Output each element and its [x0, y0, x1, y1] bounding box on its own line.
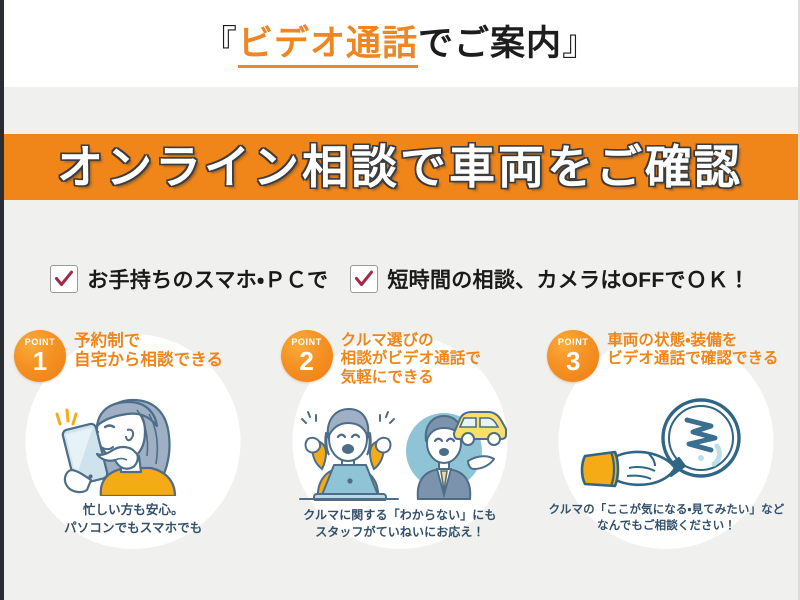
badge-number: 3	[566, 348, 580, 374]
point-badge-2: POINT 2	[281, 330, 333, 382]
check-item-1: お手持ちのスマホ・ＰＣで	[50, 264, 328, 294]
point-title-3: 車両の状態・装備を ビデオ通話で確認できる	[607, 330, 778, 369]
check-item-2: 短時間の相談、カメラはOFFでＯＫ！	[350, 264, 749, 294]
checkbox-checked-icon	[50, 265, 78, 293]
points-section: POINT 1 予約制で 自宅から相談できる	[0, 326, 800, 561]
woman-with-smartphone-illustration	[0, 384, 267, 496]
point-title-1: 予約制で 自宅から相談できる	[74, 330, 223, 371]
point-caption-3: クルマの「ここが気になる・見てみたい」など なんでもご相談ください！	[533, 502, 800, 535]
checkbox-feature-row: お手持ちのスマホ・ＰＣで 短時間の相談、カメラはOFFでＯＫ！	[0, 264, 800, 294]
hand-holding-magnifier-illustration	[533, 384, 800, 496]
point-caption-2: クルマに関する「わからない」にも スタッフがていねいにお応え！	[267, 507, 534, 541]
checkbox-checked-icon	[350, 265, 378, 293]
promo-banner-page: 『ビデオ通話でご案内』 オンライン相談で車両をご確認 お手持ちのスマホ・ＰＣで …	[0, 0, 800, 600]
point-badge-1: POINT 1	[14, 330, 66, 382]
bracket-open: 『	[202, 24, 238, 63]
point-header-2: POINT 2 クルマ選びの 相談がビデオ通話で 気軽にできる	[267, 326, 534, 387]
header-highlight-text: ビデオ通話	[238, 24, 418, 68]
point-header-3: POINT 3 車両の状態・装備を ビデオ通話で確認できる	[533, 326, 800, 382]
orange-headline-banner: オンライン相談で車両をご確認	[0, 134, 800, 200]
header-bar: 『ビデオ通話でご案内』	[0, 0, 800, 87]
woman-laptop-and-staff-with-car-illustration	[267, 389, 534, 501]
badge-number: 1	[33, 348, 47, 374]
banner-headline-text: オンライン相談で車両をご確認	[57, 144, 743, 190]
point-header-1: POINT 1 予約制で 自宅から相談できる	[0, 326, 267, 382]
left-edge-strip	[0, 0, 4, 600]
page-title: 『ビデオ通話でご案内』	[202, 26, 598, 61]
header-rest-text: でご案内	[418, 24, 562, 63]
point-column-3: POINT 3 車両の状態・装備を ビデオ通話で確認できる	[533, 326, 800, 561]
bracket-close: 』	[562, 24, 598, 63]
check-label-2: 短時間の相談、カメラはOFFでＯＫ！	[387, 264, 749, 294]
point-badge-3: POINT 3	[547, 330, 599, 382]
point-column-1: POINT 1 予約制で 自宅から相談できる	[0, 326, 267, 561]
check-label-1: お手持ちのスマホ・ＰＣで	[87, 264, 328, 294]
point-caption-1: 忙しい方も安心。 パソコンでもスマホでも	[0, 502, 267, 538]
badge-number: 2	[299, 348, 313, 374]
point-column-2: POINT 2 クルマ選びの 相談がビデオ通話で 気軽にできる	[267, 326, 534, 561]
point-title-2: クルマ選びの 相談がビデオ通話で 気軽にできる	[341, 330, 481, 387]
